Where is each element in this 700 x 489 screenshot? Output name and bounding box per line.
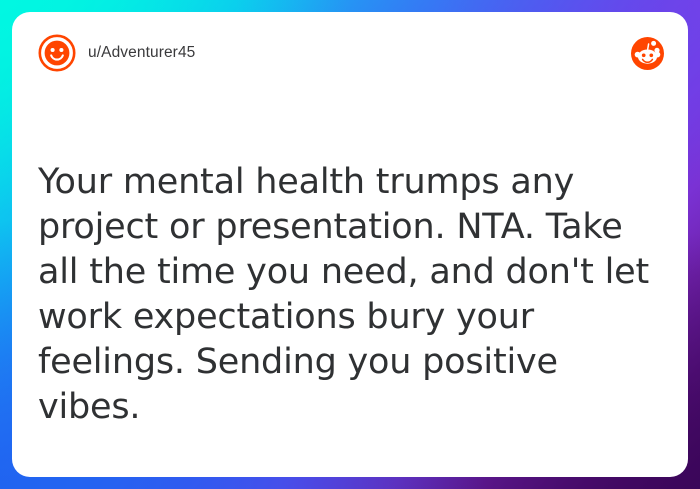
post-body-text: Your mental health trumps any project or… (38, 160, 662, 430)
gradient-background: u/Adventurer45 (0, 0, 700, 489)
post-author-username[interactable]: u/Adventurer45 (88, 44, 195, 62)
reddit-post-card: u/Adventurer45 (12, 12, 688, 477)
avatar[interactable] (38, 34, 76, 72)
reddit-snoo-icon[interactable] (631, 37, 664, 70)
post-header: u/Adventurer45 (12, 12, 688, 94)
